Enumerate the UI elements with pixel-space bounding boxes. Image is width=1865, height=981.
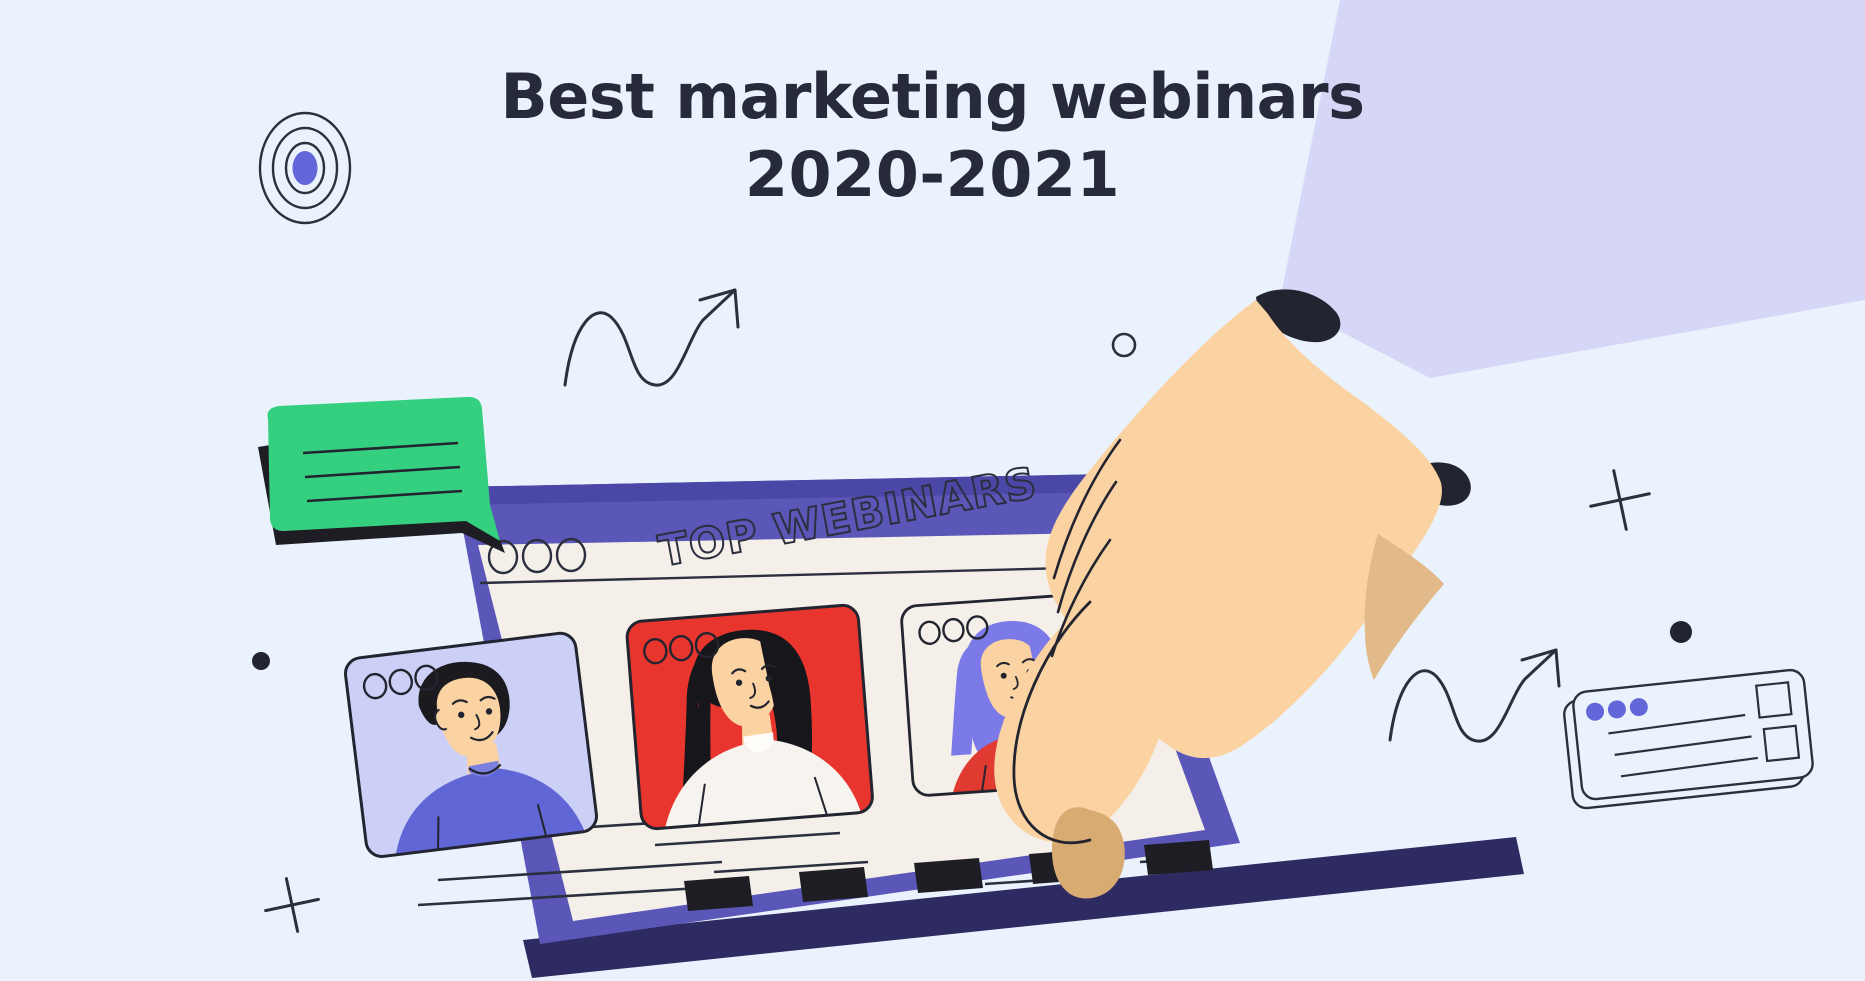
speech-bubble-body	[267, 397, 500, 541]
webinar-card-man[interactable]	[344, 631, 600, 869]
speech-bubble-green	[258, 397, 505, 553]
illustration-artwork	[0, 0, 1865, 981]
tablet-key[interactable]	[684, 876, 753, 911]
tablet-key[interactable]	[1144, 840, 1213, 875]
webinar-card-woman-red[interactable]	[626, 604, 874, 833]
dot-small-right	[1670, 621, 1692, 643]
tablet-key[interactable]	[914, 858, 983, 893]
illustration-canvas: Best marketing webinars 2020-2021 TOP WE…	[0, 0, 1865, 981]
tablet-key[interactable]	[799, 867, 868, 902]
browser-window-outline	[1562, 669, 1815, 810]
dot-small-left	[252, 652, 270, 670]
